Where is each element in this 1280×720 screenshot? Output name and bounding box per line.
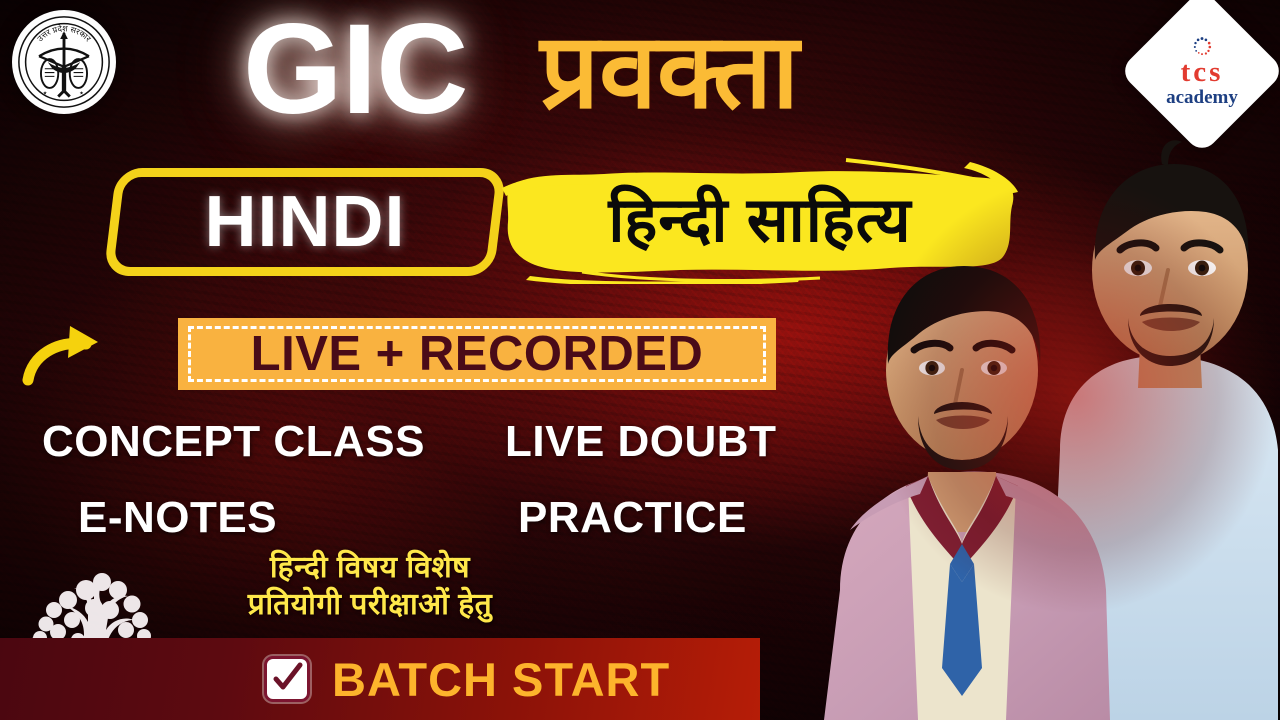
subject-badge: HINDI: [103, 168, 506, 276]
exam-title-hindi: प्रवक्ता: [540, 18, 799, 127]
mode-badge: LIVE + RECORDED: [178, 318, 776, 390]
mode-badge-label: LIVE + RECORDED: [178, 318, 776, 390]
feature-concept-class: CONCEPT CLASS: [42, 420, 425, 464]
tcs-academy-logo[interactable]: tcs academy: [1143, 12, 1261, 130]
feature-practice: PRACTICE: [518, 496, 747, 540]
checkbox-checked-icon: [264, 656, 310, 702]
cta-label[interactable]: BATCH START: [332, 652, 670, 707]
svg-text:★: ★: [43, 91, 47, 97]
exam-title: GIC: [243, 6, 468, 134]
tcs-logo-text: tcs: [1181, 58, 1224, 87]
curved-arrow-icon: [22, 322, 114, 394]
instructors-photo: [810, 120, 1280, 720]
instructors-backlight: [800, 160, 1280, 720]
uttar-pradesh-government-emblem-icon: ★ ★ उत्तर प्रदेश सरकार: [12, 10, 116, 114]
course-poster: ★ ★ उत्तर प्रदेश सरकार tcs academy: [0, 0, 1280, 720]
svg-text:★: ★: [79, 91, 83, 97]
academy-logo-text: academy: [1166, 88, 1238, 108]
feature-live-doubt: LIVE DOUBT: [505, 420, 776, 464]
cta-bar: BATCH START: [0, 638, 760, 720]
subject-badge-label: HINDI: [110, 168, 500, 276]
feature-e-notes: E-NOTES: [78, 496, 277, 540]
